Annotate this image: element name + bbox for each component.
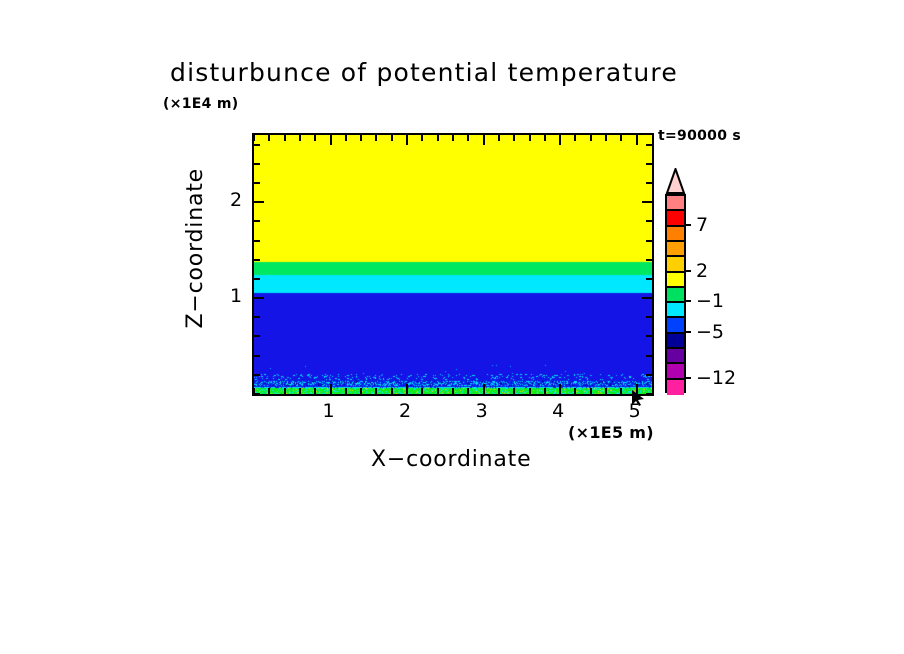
x-minor-tick-top <box>513 135 515 141</box>
x-minor-tick <box>590 388 592 394</box>
x-minor-tick-top <box>314 135 316 141</box>
y-minor-tick-right <box>646 220 652 222</box>
x-minor-tick <box>314 388 316 394</box>
x-minor-tick <box>513 388 515 394</box>
colorbar-label: −5 <box>696 321 724 343</box>
y-minor-tick-right <box>646 355 652 357</box>
x-axis-title: X−coordinate <box>371 447 531 472</box>
x-minor-tick-top <box>345 135 347 141</box>
x-minor-tick <box>620 388 622 394</box>
x-major-tick-top <box>406 135 408 145</box>
y-tick-label: 1 <box>230 285 242 307</box>
x-minor-tick-top <box>284 135 286 141</box>
y-minor-tick <box>254 259 260 261</box>
x-minor-tick-top <box>544 135 546 141</box>
colorbar-arrow-icon <box>665 168 686 194</box>
y-minor-tick-right <box>646 144 652 146</box>
x-minor-tick-top <box>467 135 469 141</box>
x-minor-tick-top <box>620 135 622 141</box>
colorbar-swatch <box>667 288 684 303</box>
x-minor-tick <box>391 388 393 394</box>
colorbar-swatch <box>667 257 684 272</box>
x-tick-label: 2 <box>399 400 411 422</box>
colorbar-swatch <box>667 380 684 395</box>
x-major-tick-top <box>559 135 561 145</box>
colorbar-swatch <box>667 227 684 242</box>
colorbar-swatch <box>667 211 684 226</box>
y-major-tick-right <box>642 297 652 299</box>
y-minor-tick <box>254 316 260 318</box>
colorbar[interactable] <box>665 168 686 393</box>
y-minor-tick <box>254 182 260 184</box>
x-minor-tick <box>452 388 454 394</box>
y-axis-title: Z−coordinate <box>183 168 208 328</box>
x-minor-tick-top <box>421 135 423 141</box>
x-axis-unit-label: (×1E5 m) <box>568 423 654 442</box>
x-minor-tick-top <box>299 135 301 141</box>
plot-area[interactable] <box>252 133 654 396</box>
y-minor-tick <box>254 374 260 376</box>
x-minor-tick-top <box>574 135 576 141</box>
x-minor-tick-top <box>375 135 377 141</box>
y-minor-tick-right <box>646 163 652 165</box>
x-minor-tick <box>299 388 301 394</box>
x-minor-tick <box>360 388 362 394</box>
x-minor-tick-top <box>529 135 531 141</box>
x-minor-tick <box>544 388 546 394</box>
y-minor-tick <box>254 278 260 280</box>
colorbar-swatch <box>667 303 684 318</box>
colorbar-swatch <box>667 196 684 211</box>
mouse-cursor-icon <box>631 389 647 407</box>
time-annotation: t=90000 s <box>658 128 741 144</box>
colorbar-label: 7 <box>696 214 708 236</box>
x-minor-tick-top <box>268 135 270 141</box>
x-minor-tick-top <box>391 135 393 141</box>
x-major-tick <box>483 384 485 394</box>
x-minor-tick <box>345 388 347 394</box>
colorbar-tick <box>686 300 691 302</box>
colorbar-swatch <box>667 242 684 257</box>
colorbar-tick <box>686 331 691 333</box>
x-major-tick-top <box>636 135 638 145</box>
x-minor-tick <box>574 388 576 394</box>
x-minor-tick-top <box>590 135 592 141</box>
x-minor-tick <box>268 388 270 394</box>
y-minor-tick-right <box>646 316 652 318</box>
x-minor-tick-top <box>498 135 500 141</box>
y-tick-label: 2 <box>230 189 242 211</box>
x-major-tick <box>559 384 561 394</box>
y-minor-tick-right <box>646 335 652 337</box>
x-minor-tick <box>437 388 439 394</box>
y-minor-tick <box>254 144 260 146</box>
colorbar-label: 2 <box>696 260 708 282</box>
x-minor-tick <box>605 388 607 394</box>
y-major-tick <box>254 201 264 203</box>
y-minor-tick-right <box>646 240 652 242</box>
x-major-tick-top <box>483 135 485 145</box>
x-tick-label: 1 <box>322 400 334 422</box>
x-minor-tick-top <box>452 135 454 141</box>
y-minor-tick <box>254 220 260 222</box>
heatmap-field <box>254 135 652 394</box>
x-minor-tick-top <box>253 135 255 141</box>
x-minor-tick <box>375 388 377 394</box>
y-minor-tick-right <box>646 182 652 184</box>
x-minor-tick-top <box>437 135 439 141</box>
y-minor-tick-right <box>646 374 652 376</box>
colorbar-tick <box>686 270 691 272</box>
y-minor-tick-right <box>646 278 652 280</box>
y-minor-tick <box>254 240 260 242</box>
colorbar-label: −1 <box>696 290 724 312</box>
colorbar-swatch <box>667 364 684 379</box>
y-minor-tick <box>254 393 260 395</box>
colorbar-swatch <box>667 318 684 333</box>
x-major-tick <box>330 384 332 394</box>
x-minor-tick <box>529 388 531 394</box>
x-minor-tick <box>284 388 286 394</box>
x-minor-tick <box>421 388 423 394</box>
x-tick-label: 4 <box>552 400 564 422</box>
x-major-tick <box>406 384 408 394</box>
colorbar-label: −12 <box>696 367 736 389</box>
colorbar-swatches <box>665 194 686 393</box>
chart-title: disturbunce of potential temperature <box>170 58 678 87</box>
colorbar-swatch <box>667 273 684 288</box>
x-minor-tick <box>498 388 500 394</box>
y-minor-tick <box>254 163 260 165</box>
y-minor-tick <box>254 335 260 337</box>
y-major-tick <box>254 297 264 299</box>
colorbar-tick <box>686 224 691 226</box>
x-minor-tick-top <box>360 135 362 141</box>
y-axis-unit-label: (×1E4 m) <box>163 96 238 112</box>
colorbar-swatch <box>667 334 684 349</box>
colorbar-tick <box>686 377 691 379</box>
x-minor-tick <box>467 388 469 394</box>
x-minor-tick-top <box>605 135 607 141</box>
x-tick-label: 3 <box>476 400 488 422</box>
y-major-tick-right <box>642 201 652 203</box>
y-minor-tick <box>254 355 260 357</box>
x-major-tick-top <box>330 135 332 145</box>
y-minor-tick-right <box>646 259 652 261</box>
colorbar-swatch <box>667 349 684 364</box>
